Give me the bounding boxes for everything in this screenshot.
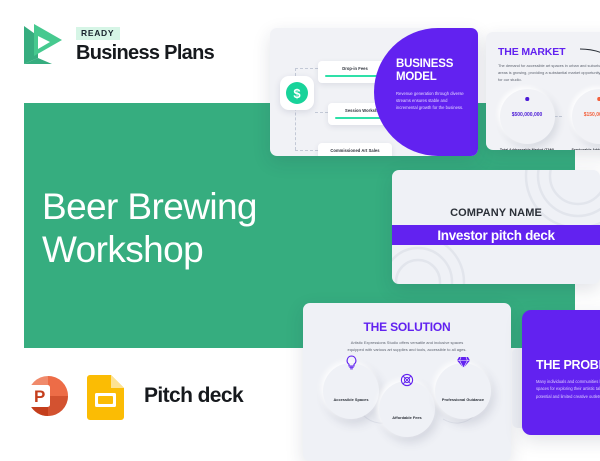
slide-body: Many individuals and communities lack ac…: [536, 378, 600, 400]
lightbulb-icon: [342, 353, 360, 371]
brand-title: Business Plans: [76, 43, 214, 63]
pillar-professional-guidance: Professional Guidance: [435, 363, 491, 419]
slide-the-market[interactable]: THE MARKET The demand for accessible art…: [486, 32, 600, 150]
revenue-stream-item: Commissioned Art Sales: [318, 143, 392, 156]
company-name-label: COMPANY NAME: [392, 207, 600, 219]
slide-title: THE PROBLEM: [536, 358, 600, 372]
slide-body: Revenue generation through diverse strea…: [396, 90, 470, 111]
slide-title: BUSINESS MODEL: [396, 58, 470, 84]
market-metrics: $500,000,000 Total Addressable Market (T…: [496, 89, 600, 150]
slide-company-name[interactable]: COMPANY NAME Investor pitch deck: [392, 170, 600, 284]
powerpoint-icon: P: [22, 372, 70, 420]
slide-the-solution[interactable]: THE SOLUTION Artistic Expressions Studio…: [303, 303, 511, 461]
format-row: P Pitch deck: [22, 372, 243, 420]
preview-canvas: READY Business Plans Beer Brewing Worksh…: [0, 0, 600, 461]
slide-the-problem[interactable]: THE PROBLEM Many individuals and communi…: [522, 310, 600, 435]
connector-line: [315, 112, 328, 113]
coin-icon: [398, 371, 416, 389]
market-metric-item: $150,000,000 Serviceable Addressable Mar…: [568, 89, 600, 150]
svg-text:P: P: [34, 387, 45, 406]
dollar-sign-icon: $: [280, 76, 314, 110]
slide-business-model[interactable]: $ Drop-in Fees Session Workshops Commiss…: [270, 28, 478, 156]
pillar-accessible-spaces: Accessible Spaces: [323, 363, 379, 419]
format-label: Pitch deck: [144, 384, 243, 408]
pillar-label: Professional Guidance: [442, 397, 484, 403]
pillar-label: Affordable Fees: [392, 415, 421, 421]
metric-caption: Serviceable Addressable Market (SAM): [568, 148, 600, 150]
diamond-icon: [454, 353, 472, 371]
metric-caption: Total Addressable Market (TAM): [496, 148, 558, 150]
revenue-stream-label: Drop-in Fees: [325, 66, 385, 71]
connector-line: [295, 150, 318, 151]
slide-title: THE MARKET: [498, 46, 565, 58]
metric-dot: [525, 97, 529, 101]
investor-pitch-band: Investor pitch deck: [392, 225, 600, 245]
investor-pitch-label: Investor pitch deck: [437, 228, 554, 243]
slide-body: The demand for accessible art spaces in …: [498, 63, 600, 83]
ready-badge: READY: [76, 27, 120, 41]
brand-header: READY Business Plans: [18, 20, 214, 70]
revenue-stream-label: Commissioned Art Sales: [325, 148, 385, 153]
pillar-affordable-fees: Affordable Fees: [379, 381, 435, 437]
market-metric-item: $500,000,000 Total Addressable Market (T…: [496, 89, 558, 150]
pillar-label: Accessible Spaces: [333, 397, 368, 403]
google-slides-icon: [84, 372, 128, 420]
metric-value: $150,000,000: [572, 112, 600, 118]
connector-line: [295, 68, 318, 69]
page-title: Beer Brewing Workshop: [42, 185, 342, 272]
play-triangle-logo-icon: [18, 20, 66, 70]
metric-value: $500,000,000: [500, 112, 555, 118]
